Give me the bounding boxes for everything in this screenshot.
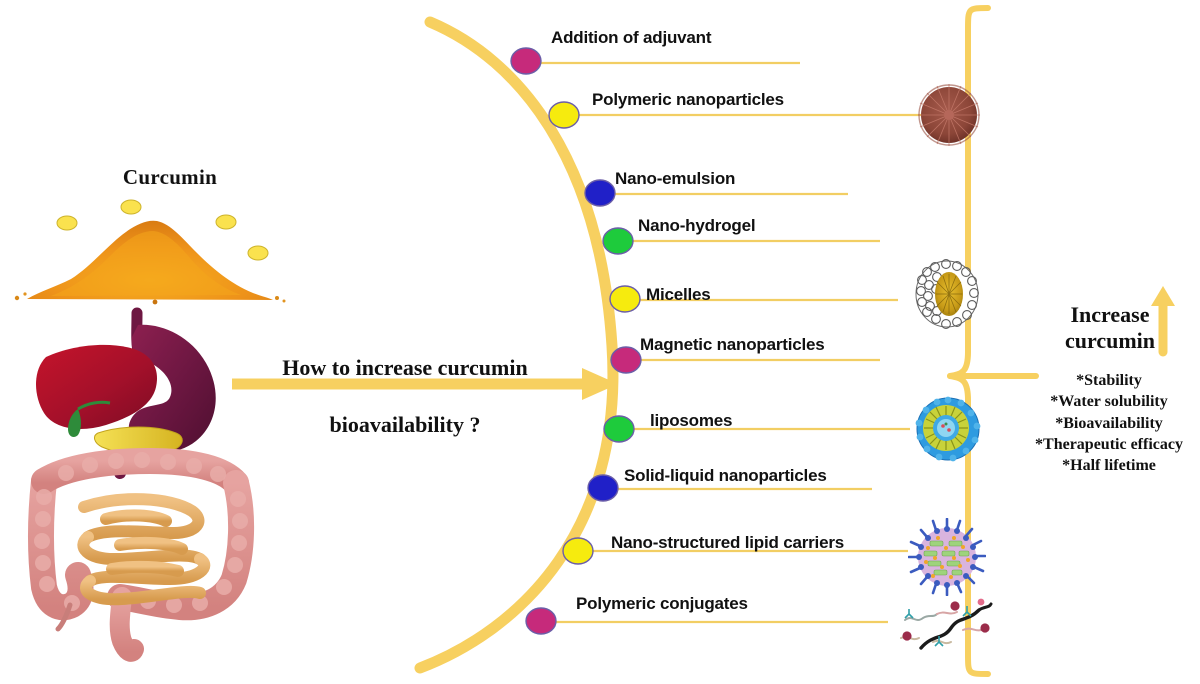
node-label-nano-emulsion[interactable]: Nano-emulsion	[615, 169, 735, 189]
node-dot-magenta	[611, 347, 641, 373]
increase-curcumin-title: Increase curcumin	[1035, 302, 1185, 354]
benefit-item: *Therapeutic efficacy	[1018, 434, 1200, 455]
node-label-micelles[interactable]: Micelles	[646, 285, 711, 305]
node-label-solid-liquid-nanoparticles[interactable]: Solid-liquid nanoparticles	[624, 466, 827, 486]
micelle-thumb	[913, 258, 983, 330]
node-dot-yellow	[563, 538, 593, 564]
liposome-thumb	[913, 394, 983, 464]
node-dot-yellow	[610, 286, 640, 312]
polymeric-conjugate-thumb	[893, 594, 993, 666]
increase-title-line-1: Increase	[1035, 302, 1185, 328]
benefit-item: *Water solubility	[1018, 391, 1200, 412]
node-dot-magenta	[511, 48, 541, 74]
polymeric-nanoparticle-thumb	[914, 80, 984, 150]
node-dot-green	[603, 228, 633, 254]
node-dot-magenta	[526, 608, 556, 634]
node-label-nano-hydrogel[interactable]: Nano-hydrogel	[638, 216, 755, 236]
benefit-list: *Stability *Water solubility *Bioavailab…	[1018, 370, 1200, 476]
node-label-nano-structured-lipid-carriers[interactable]: Nano-structured lipid carriers	[611, 533, 844, 553]
node-label-polymeric-conjugates[interactable]: Polymeric conjugates	[576, 594, 748, 614]
node-label-polymeric-nanoparticles[interactable]: Polymeric nanoparticles	[592, 90, 784, 110]
increase-title-line-2: curcumin	[1035, 328, 1185, 354]
node-label-magnetic-nanoparticles[interactable]: Magnetic nanoparticles	[640, 335, 825, 355]
nano-structured-lipid-carrier-thumb	[908, 518, 986, 596]
node-dot-blue	[585, 180, 615, 206]
node-dot-yellow	[549, 102, 579, 128]
benefit-item: *Bioavailability	[1018, 413, 1200, 434]
node-dot-green	[604, 416, 634, 442]
node-label-liposomes[interactable]: liposomes	[650, 411, 732, 431]
benefit-item: *Stability	[1018, 370, 1200, 391]
node-label-addition-of-adjuvant[interactable]: Addition of adjuvant	[551, 28, 711, 48]
node-dot-blue	[588, 475, 618, 501]
benefit-item: *Half lifetime	[1018, 455, 1200, 476]
figure-canvas: Curcumin	[0, 0, 1200, 684]
